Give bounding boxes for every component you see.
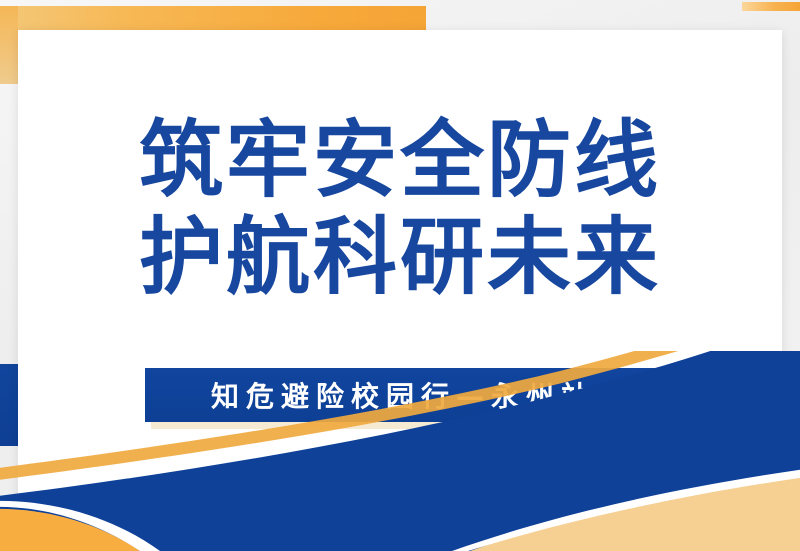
poster-canvas: 筑牢安全防线 护航科研未来 知危避险校园行—永州站 <box>0 0 800 551</box>
bottom-decorative-curves <box>0 351 800 551</box>
orange-bar-top-left-icon <box>0 6 426 30</box>
orange-bar-left-vertical-icon <box>0 6 18 84</box>
swoosh-svg-icon <box>0 351 800 551</box>
orange-bar-top-right-icon <box>742 2 800 11</box>
